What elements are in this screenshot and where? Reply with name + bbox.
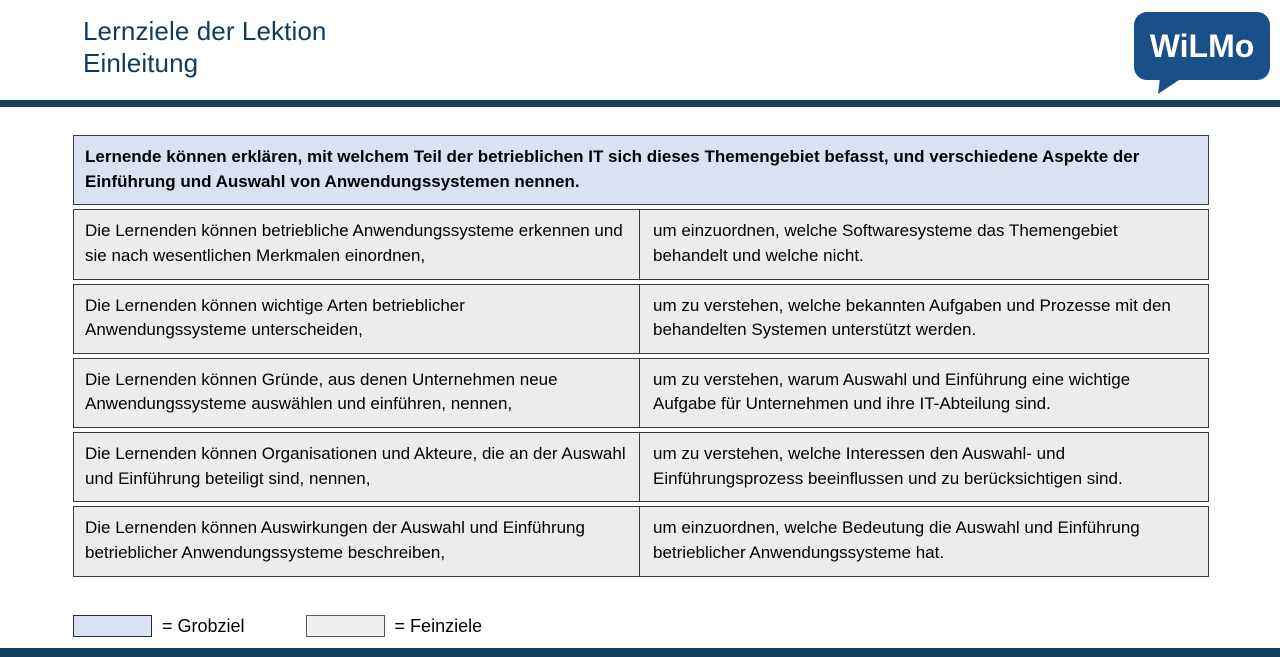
table-row: Die Lernenden können Auswirkungen der Au…: [73, 506, 1209, 576]
learning-goals-table: Lernende können erklären, mit welchem Te…: [73, 135, 1209, 577]
fine-goal-purpose: um zu verstehen, welche bekannten Aufgab…: [640, 285, 1208, 353]
legend-label-coarse-goal: = Grobziel: [162, 616, 245, 637]
footer-divider-rule: [0, 648, 1280, 657]
table-row: Die Lernenden können betriebliche Anwend…: [73, 209, 1209, 279]
legend: = Grobziel = Feinziele: [73, 615, 482, 637]
legend-item-coarse-goal: = Grobziel: [73, 615, 245, 637]
slide-header: Lernziele der Lektion Einleitung WiLMo: [0, 0, 1280, 100]
page-title: Lernziele der Lektion Einleitung: [83, 16, 326, 79]
fine-goal-objective: Die Lernenden können Auswirkungen der Au…: [74, 507, 640, 575]
page-title-line-1: Lernziele der Lektion: [83, 16, 326, 48]
fine-goal-objective: Die Lernenden können Gründe, aus denen U…: [74, 359, 640, 427]
legend-swatch-coarse-goal: [73, 615, 152, 637]
fine-goal-purpose: um zu verstehen, welche Interessen den A…: [640, 433, 1208, 501]
fine-goal-purpose: um zu verstehen, warum Auswahl und Einfü…: [640, 359, 1208, 427]
fine-goal-purpose: um einzuordnen, welche Bedeutung die Aus…: [640, 507, 1208, 575]
page-title-line-2: Einleitung: [83, 48, 326, 80]
fine-goal-objective: Die Lernenden können betriebliche Anwend…: [74, 210, 640, 278]
fine-goal-objective: Die Lernenden können wichtige Arten betr…: [74, 285, 640, 353]
legend-swatch-fine-goals: [306, 615, 385, 637]
table-row: Die Lernenden können wichtige Arten betr…: [73, 284, 1209, 354]
wilmo-logo: WiLMo: [1120, 8, 1272, 94]
fine-goal-purpose: um einzuordnen, welche Softwaresysteme d…: [640, 210, 1208, 278]
logo-text: WiLMo: [1150, 28, 1255, 64]
header-divider-rule: [0, 100, 1280, 107]
legend-item-fine-goals: = Feinziele: [306, 615, 483, 637]
fine-goal-objective: Die Lernenden können Organisationen und …: [74, 433, 640, 501]
table-row-coarse-goal: Lernende können erklären, mit welchem Te…: [73, 135, 1209, 205]
legend-label-fine-goals: = Feinziele: [395, 616, 483, 637]
table-row: Die Lernenden können Organisationen und …: [73, 432, 1209, 502]
table-row: Die Lernenden können Gründe, aus denen U…: [73, 358, 1209, 428]
coarse-goal-text: Lernende können erklären, mit welchem Te…: [74, 136, 1208, 204]
